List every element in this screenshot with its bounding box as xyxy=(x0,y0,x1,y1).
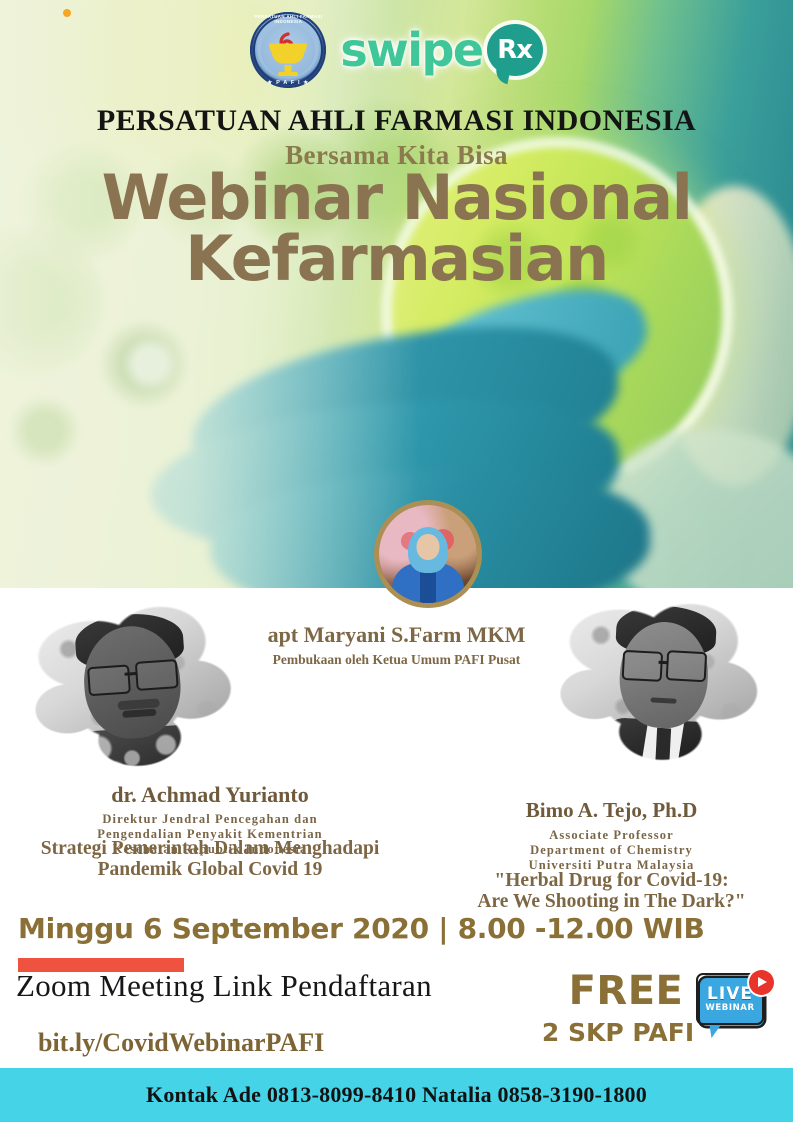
portrait-tie xyxy=(655,728,671,767)
right-speaker-topic: "Herbal Drug for Covid-19: Are We Shooti… xyxy=(430,870,793,913)
pafi-ring-text-top: PERSATUAN AHLI FARMASI INDONESIA xyxy=(250,14,326,24)
left-speaker-name: dr. Achmad Yurianto xyxy=(0,782,420,808)
speaker-photo-tejo xyxy=(552,580,776,766)
left-topic-line2: Pandemik Global Covid 19 xyxy=(0,859,420,880)
swipe-wordmark: swipe xyxy=(340,27,482,73)
swipe-dot-icon xyxy=(63,9,71,17)
right-affiliation-line2: Department of Chemistry xyxy=(430,843,793,858)
live-webinar-badge-icon: LIVE WEBINAR xyxy=(698,972,772,1042)
pafi-ring-text-bottom: ★ P A F I ★ xyxy=(250,80,326,86)
left-speaker-topic: Strategi Pemerintah Dalam Menghadapi Pan… xyxy=(0,838,420,881)
right-affiliation-line1: Associate Professor xyxy=(430,828,793,843)
virus-blob-icon xyxy=(10,396,80,466)
rx-text: Rx xyxy=(497,37,532,63)
registration-link[interactable]: bit.ly/CovidWebinarPAFI xyxy=(38,1028,324,1058)
right-speaker-affiliation: Associate Professor Department of Chemis… xyxy=(430,828,793,872)
price-label: FREE xyxy=(546,968,706,1014)
right-topic-line2: Are We Shooting in The Dark?" xyxy=(430,891,793,912)
credits-label: 2 SKP PAFI xyxy=(530,1018,706,1047)
center-speaker-role: Pembukaan oleh Ketua Umum PAFI Pusat xyxy=(0,652,793,668)
center-speaker-name: apt Maryani S.Farm MKM xyxy=(0,622,793,648)
right-topic-line1: "Herbal Drug for Covid-19: xyxy=(430,870,793,891)
speaker-photo-maryani xyxy=(374,500,482,608)
logo-row: PERSATUAN AHLI FARMASI INDONESIA ★ P A F… xyxy=(0,10,793,90)
page-title: Webinar Nasional Kefarmasian xyxy=(0,168,793,290)
event-datetime: Minggu 6 September 2020 | 8.00 -12.00 WI… xyxy=(18,912,705,945)
platform-line: Zoom Meeting Link Pendaftaran xyxy=(16,968,432,1004)
main-title-line2: Kefarmasian xyxy=(0,229,793,290)
rx-speech-bubble-icon: Rx xyxy=(487,24,543,76)
play-button-icon xyxy=(749,970,774,995)
photo-face xyxy=(417,534,440,560)
right-speaker-name: Bimo A. Tejo, Ph.D xyxy=(430,798,793,823)
left-topic-line1: Strategi Pemerintah Dalam Menghadapi xyxy=(0,838,420,859)
badge-webinar-text: WEBINAR xyxy=(698,1003,762,1013)
webinar-poster: PERSATUAN AHLI FARMASI INDONESIA ★ P A F… xyxy=(0,0,793,1122)
portrait-glasses-left xyxy=(87,664,131,696)
speaker-photo-yurianto xyxy=(22,585,249,775)
contact-text: Kontak Ade 0813-8099-8410 Natalia 0858-3… xyxy=(146,1082,647,1108)
left-affiliation-line1: Direktur Jendral Pencegahan dan xyxy=(0,812,420,827)
pafi-seal-icon: PERSATUAN AHLI FARMASI INDONESIA ★ P A F… xyxy=(250,12,326,88)
swiperx-logo-icon: swipe Rx xyxy=(340,24,542,76)
contact-footer-bar: Kontak Ade 0813-8099-8410 Natalia 0858-3… xyxy=(0,1068,793,1122)
pafi-bowl-foot xyxy=(278,72,298,76)
virus-blob-icon xyxy=(122,336,178,392)
organization-title: PERSATUAN AHLI FARMASI INDONESIA xyxy=(0,104,793,138)
